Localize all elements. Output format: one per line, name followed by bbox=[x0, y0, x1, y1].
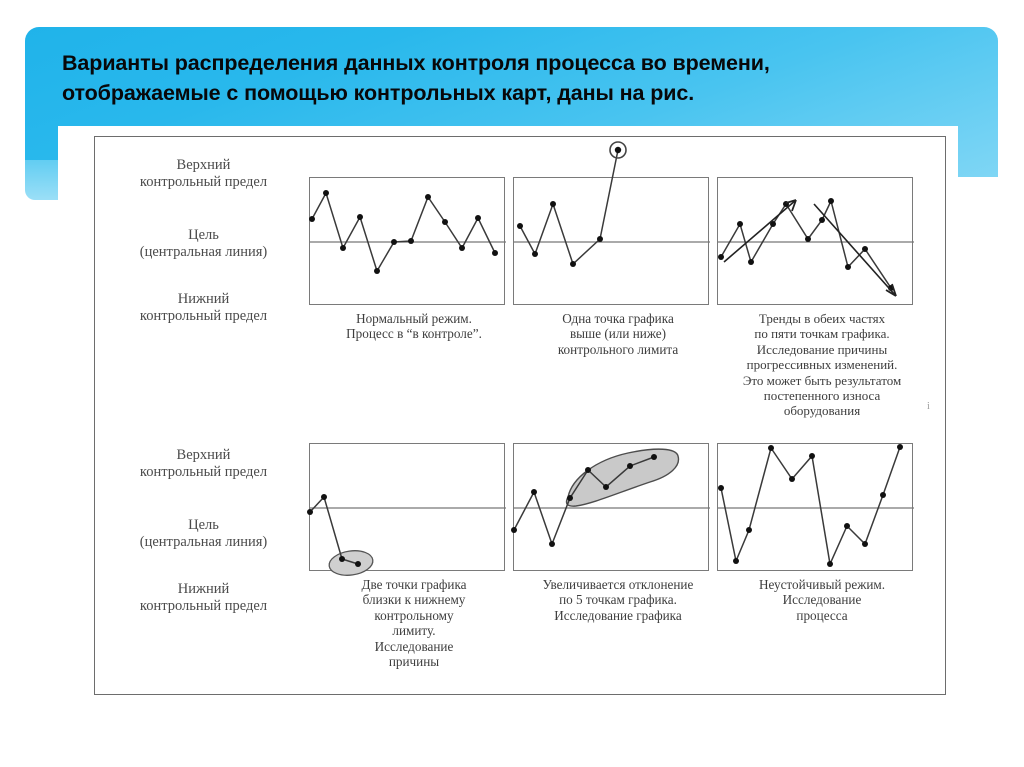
trend-arrow-descending bbox=[814, 204, 896, 296]
chart-cell-unstable-mode: Неустойчивый режим. Исследование процесс… bbox=[717, 443, 927, 623]
control-chart-one-point-outside-plot bbox=[500, 138, 724, 348]
chart-cell-trends-both-parts: Тренды в обеих частях по пяти точкам гра… bbox=[717, 177, 927, 419]
axis-label-upper-limit-line-2: контрольный предел bbox=[101, 464, 306, 481]
axis-label-lower-limit-line-1: Нижний bbox=[101, 581, 306, 598]
axis-label-upper-limit: Верхний контрольный предел bbox=[101, 157, 306, 191]
axis-label-upper-limit-line-1: Верхний bbox=[101, 157, 306, 174]
page-title-line-2: отображаемые с помощью контрольных карт,… bbox=[62, 78, 962, 108]
axis-label-lower-limit-line-2: контрольный предел bbox=[101, 308, 306, 325]
page-title: Варианты распределения данных контроля п… bbox=[62, 48, 962, 108]
slide-root: Варианты распределения данных контроля п… bbox=[0, 0, 1024, 767]
control-chart-two-points-near-lower-limit-plot bbox=[296, 404, 520, 614]
near-limit-highlight-ellipse bbox=[328, 548, 375, 578]
axis-label-target-line-1: Цель bbox=[101, 227, 306, 244]
caption-line: прогрессивных изменений. bbox=[717, 357, 927, 372]
caption-line: Это может быть результатом bbox=[717, 373, 927, 388]
axis-label-target-line-2: (центральная линия) bbox=[101, 244, 306, 261]
axis-label-lower-limit: Нижний контрольный предел bbox=[101, 581, 306, 615]
chart-row-bottom: Верхний контрольный предел Цель (централ… bbox=[95, 433, 947, 695]
axis-label-upper-limit-line-1: Верхний bbox=[101, 447, 306, 464]
caption-line: постепенного износа bbox=[717, 388, 927, 403]
chart-cell-increasing-deviation: Увеличивается отклонение по 5 точкам гра… bbox=[513, 443, 723, 623]
chart-row-top: Верхний контрольный предел Цель (централ… bbox=[95, 143, 947, 433]
caption-line: Исследование bbox=[309, 639, 519, 654]
figure-frame: Верхний контрольный предел Цель (централ… bbox=[94, 136, 946, 695]
axis-label-upper-limit: Верхний контрольный предел bbox=[101, 447, 306, 481]
axis-label-lower-limit-line-1: Нижний bbox=[101, 291, 306, 308]
control-chart-normal-mode bbox=[309, 177, 505, 305]
control-chart-increasing-deviation-plot bbox=[500, 404, 724, 614]
caption-line: причины bbox=[309, 654, 519, 669]
axis-label-target-line-2: (центральная линия) bbox=[101, 534, 306, 551]
control-chart-increasing-deviation bbox=[513, 443, 709, 571]
control-chart-unstable-mode-plot bbox=[704, 404, 928, 614]
axis-label-target: Цель (центральная линия) bbox=[101, 517, 306, 551]
control-chart-one-point-outside bbox=[513, 177, 709, 305]
trend-arrow-ascending bbox=[724, 200, 796, 262]
control-chart-trends-both-parts bbox=[717, 177, 913, 305]
control-chart-normal-mode-plot bbox=[296, 138, 520, 348]
page-title-line-1: Варианты распределения данных контроля п… bbox=[62, 48, 962, 78]
control-chart-unstable-mode bbox=[717, 443, 913, 571]
axis-label-target: Цель (центральная линия) bbox=[101, 227, 306, 261]
control-chart-trends-both-parts-plot bbox=[704, 138, 928, 348]
axis-label-lower-limit: Нижний контрольный предел bbox=[101, 291, 306, 325]
chart-cell-one-point-outside: Одна точка графика выше (или ниже) контр… bbox=[513, 177, 723, 357]
chart-cell-normal-mode: Нормальный режим. Процесс в “в контроле”… bbox=[309, 177, 519, 342]
caption-line: лимиту. bbox=[309, 623, 519, 638]
axis-label-target-line-1: Цель bbox=[101, 517, 306, 534]
axis-label-upper-limit-line-2: контрольный предел bbox=[101, 174, 306, 191]
control-chart-two-points-near-lower-limit bbox=[309, 443, 505, 571]
axis-label-lower-limit-line-2: контрольный предел bbox=[101, 598, 306, 615]
chart-cell-two-points-near-lower-limit: Две точки графика близки к нижнему контр… bbox=[309, 443, 519, 669]
